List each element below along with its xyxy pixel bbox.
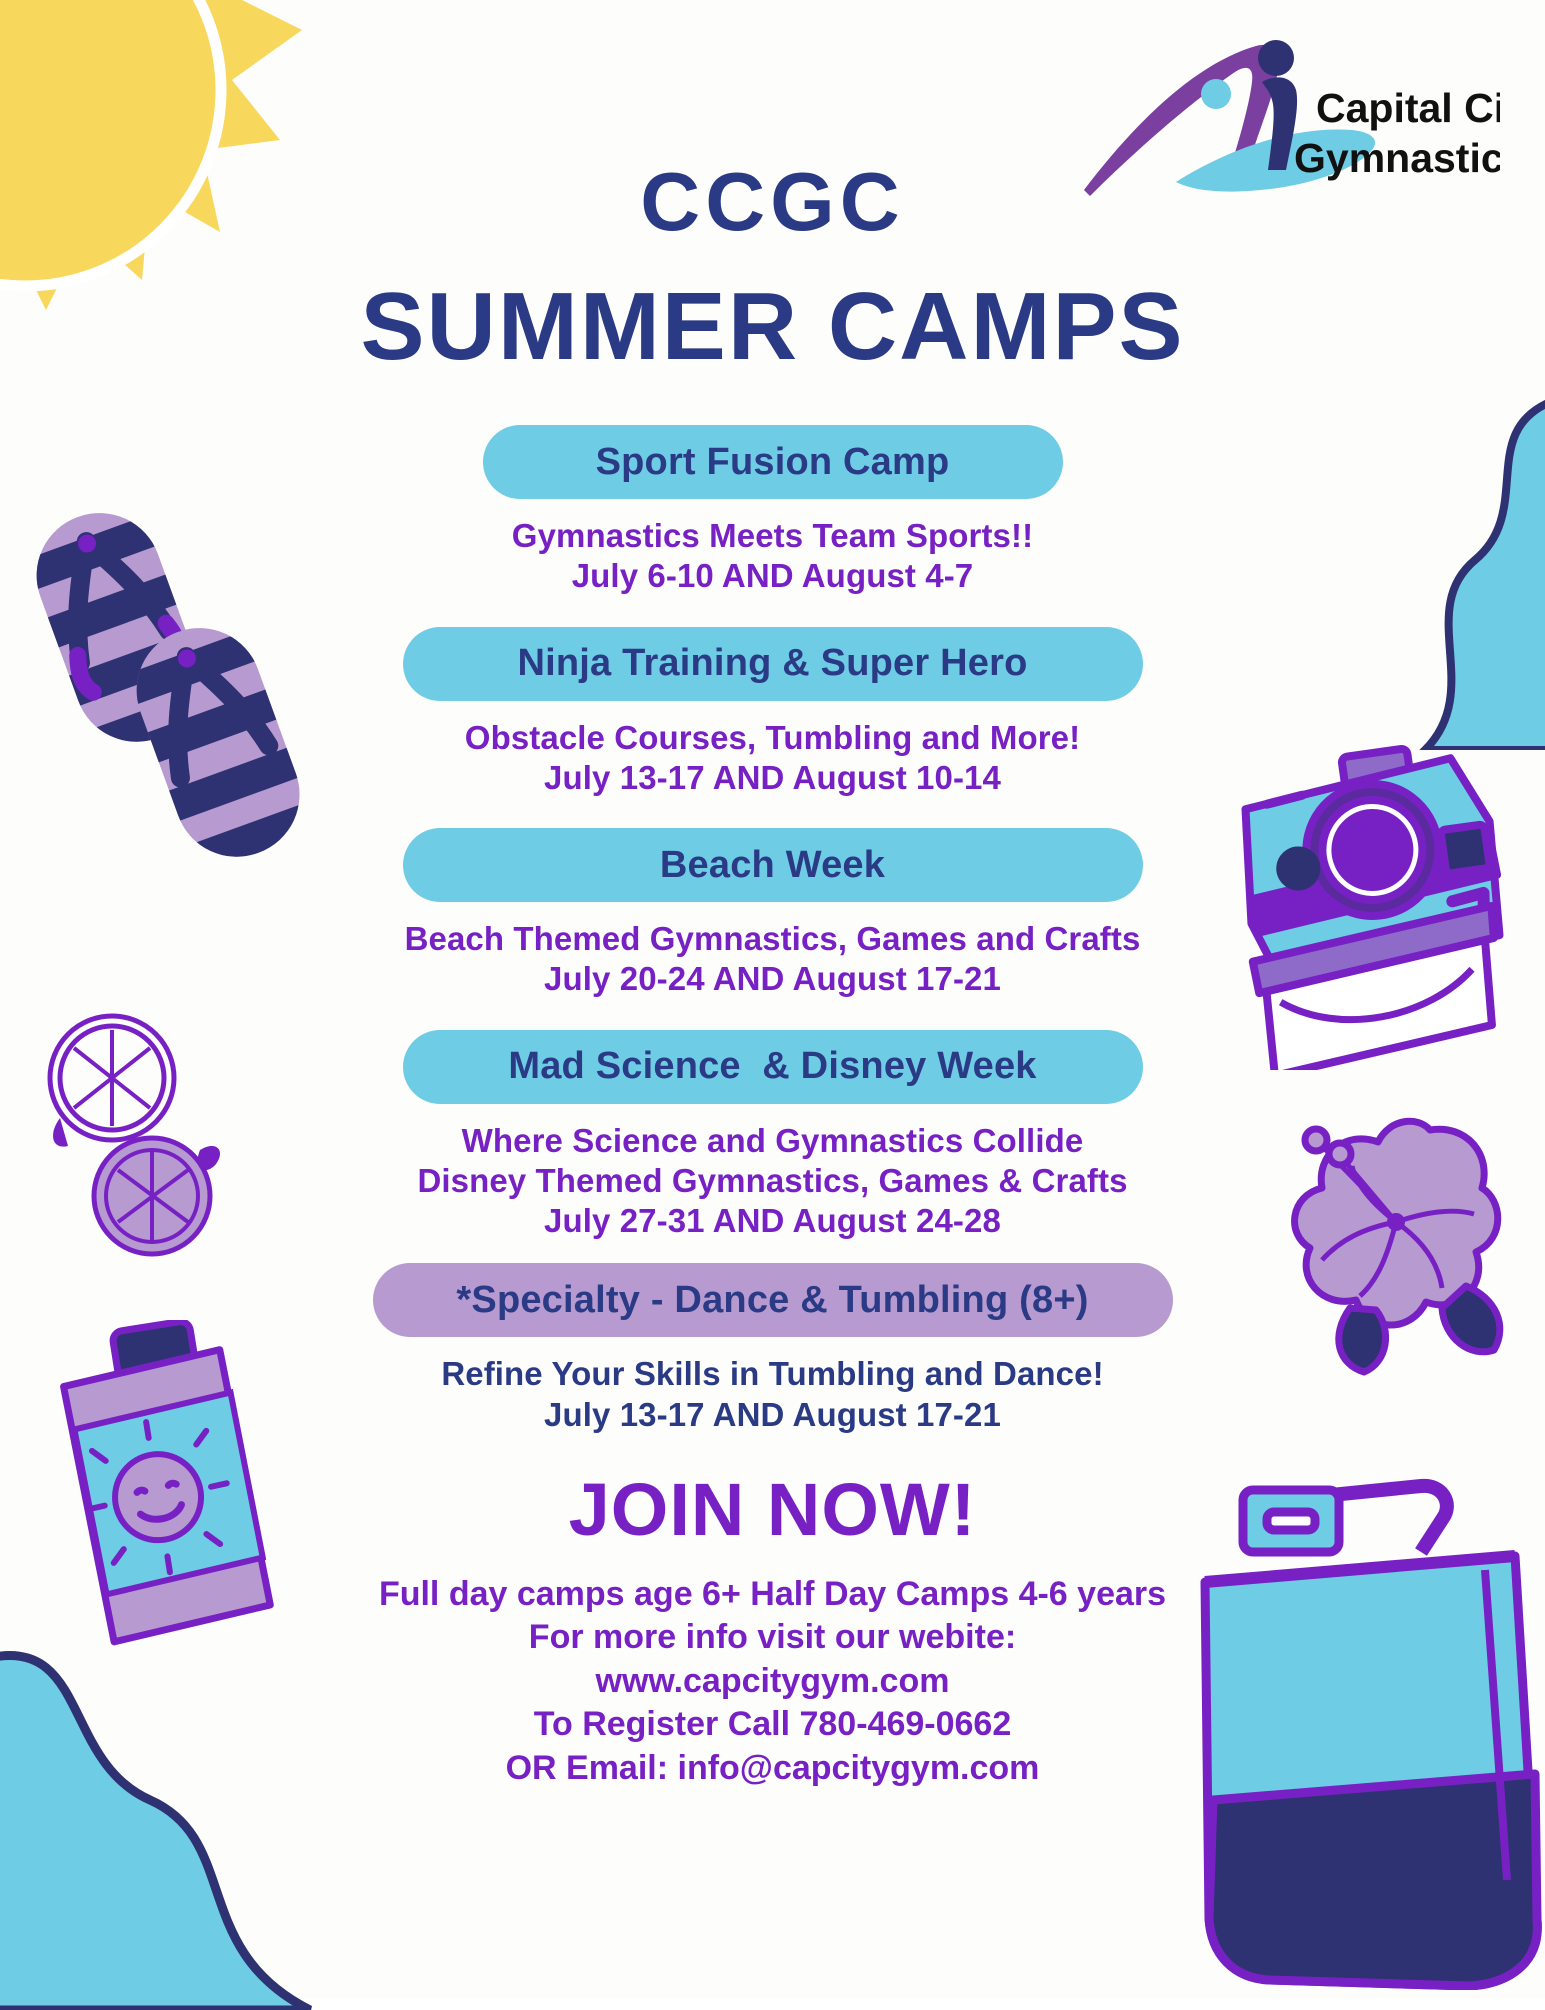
camp-desc-line: Disney Themed Gymnastics, Games & Crafts <box>417 1161 1127 1201</box>
camp-dates-line: July 6-10 AND August 4-7 <box>512 556 1033 596</box>
camp-block-specialty-dance-tumbling: *Specialty - Dance & Tumbling (8+) Refin… <box>0 1263 1545 1435</box>
footer-website-url[interactable]: www.capcitygym.com <box>379 1660 1166 1704</box>
camp-pill-sport-fusion[interactable]: Sport Fusion Camp <box>483 425 1063 499</box>
camp-desc-line: Where Science and Gymnastics Collide <box>417 1121 1127 1161</box>
camp-pill-beach-week[interactable]: Beach Week <box>403 828 1143 902</box>
footer-website-prompt: For more info visit our webite: <box>379 1616 1166 1660</box>
join-now-cta[interactable]: JOIN NOW! <box>569 1473 977 1547</box>
footer-email[interactable]: OR Email: info@capcitygym.com <box>379 1747 1166 1791</box>
camp-desc-ninja-training: Obstacle Courses, Tumbling and More! Jul… <box>465 718 1080 799</box>
flyer-content: CCGC SUMMER CAMPS Sport Fusion Camp Gymn… <box>0 0 1545 1999</box>
camp-pill-ninja-training[interactable]: Ninja Training & Super Hero <box>403 627 1143 701</box>
camp-block-mad-science-disney: Mad Science & Disney Week Where Science … <box>0 1030 1545 1242</box>
camp-dates-line: July 13-17 AND August 17-21 <box>441 1395 1103 1435</box>
footer-phone[interactable]: To Register Call 780-469-0662 <box>379 1703 1166 1747</box>
camp-desc-line: Refine Your Skills in Tumbling and Dance… <box>441 1354 1103 1394</box>
camp-dates-line: July 27-31 AND August 24-28 <box>417 1201 1127 1241</box>
footer-info: Full day camps age 6+ Half Day Camps 4-6… <box>379 1573 1166 1791</box>
camp-block-beach-week: Beach Week Beach Themed Gymnastics, Game… <box>0 828 1545 1000</box>
camp-pill-mad-science-disney[interactable]: Mad Science & Disney Week <box>403 1030 1143 1104</box>
footer-ages-line: Full day camps age 6+ Half Day Camps 4-6… <box>379 1573 1166 1617</box>
camp-desc-line: Obstacle Courses, Tumbling and More! <box>465 718 1080 758</box>
camp-desc-beach-week: Beach Themed Gymnastics, Games and Craft… <box>405 919 1141 1000</box>
page-title: SUMMER CAMPS <box>360 279 1184 375</box>
page-acronym: CCGC <box>640 160 904 243</box>
camp-block-sport-fusion: Sport Fusion Camp Gymnastics Meets Team … <box>0 425 1545 597</box>
camp-desc-sport-fusion: Gymnastics Meets Team Sports!! July 6-10… <box>512 516 1033 597</box>
camp-desc-specialty-dance-tumbling: Refine Your Skills in Tumbling and Dance… <box>441 1354 1103 1435</box>
camp-dates-line: July 13-17 AND August 10-14 <box>465 758 1080 798</box>
camp-dates-line: July 20-24 AND August 17-21 <box>405 959 1141 999</box>
camp-pill-specialty-dance-tumbling[interactable]: *Specialty - Dance & Tumbling (8+) <box>373 1263 1173 1337</box>
camp-desc-line: Beach Themed Gymnastics, Games and Craft… <box>405 919 1141 959</box>
camp-desc-mad-science-disney: Where Science and Gymnastics Collide Dis… <box>417 1121 1127 1242</box>
camp-block-ninja-training: Ninja Training & Super Hero Obstacle Cou… <box>0 627 1545 799</box>
camp-list: Sport Fusion Camp Gymnastics Meets Team … <box>0 425 1545 1435</box>
camp-desc-line: Gymnastics Meets Team Sports!! <box>512 516 1033 556</box>
